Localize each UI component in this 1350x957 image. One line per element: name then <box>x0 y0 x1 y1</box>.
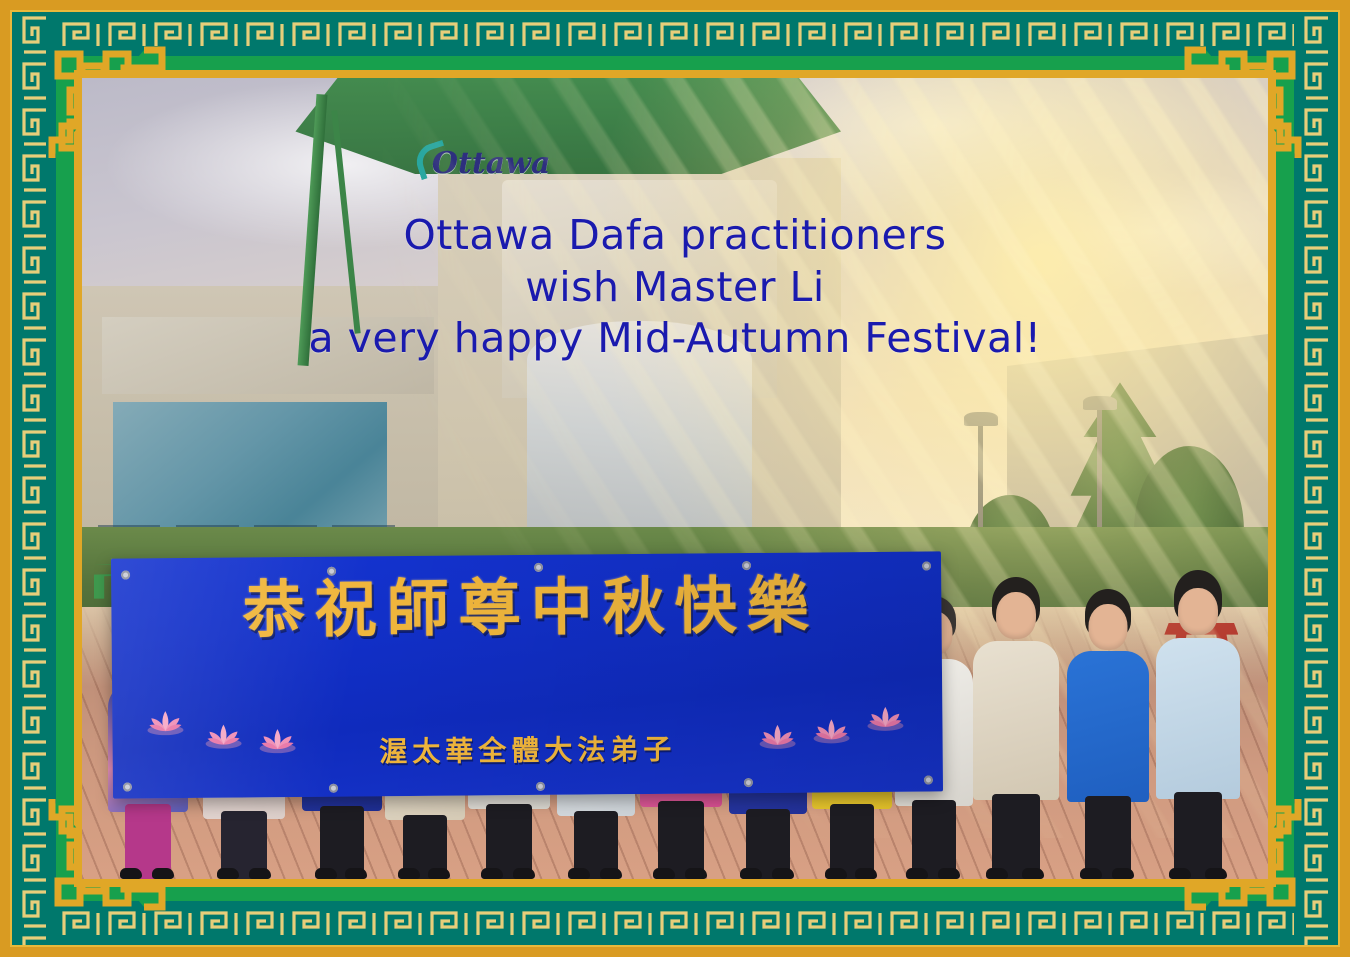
shoe <box>568 868 590 879</box>
shoe <box>938 868 960 879</box>
head <box>1089 604 1128 650</box>
shoe <box>1112 868 1134 879</box>
torso <box>1156 638 1240 799</box>
shoe <box>772 868 794 879</box>
group-photo: Ottawa <box>82 78 1268 879</box>
person <box>972 574 1060 879</box>
person <box>1155 570 1241 879</box>
shoe <box>906 868 928 879</box>
lotus-flower-icon <box>757 721 797 749</box>
legs <box>1085 796 1131 879</box>
shoe <box>152 868 174 879</box>
shoe <box>825 868 847 879</box>
shoe <box>1022 868 1044 879</box>
festival-banner: 恭祝師尊中秋快樂 <box>111 551 943 799</box>
shoe <box>855 868 877 879</box>
shoe <box>513 868 535 879</box>
shoe <box>685 868 707 879</box>
head <box>996 592 1036 639</box>
greek-key-border-top <box>12 12 1338 56</box>
shoe <box>481 868 503 879</box>
shoe <box>120 868 142 879</box>
banner-grommet <box>123 782 132 791</box>
person <box>1066 583 1150 879</box>
legs <box>992 794 1040 879</box>
shoe <box>1080 868 1102 879</box>
left-wing-upper-facade <box>102 317 435 394</box>
lotus-flower-icon <box>865 704 905 732</box>
banner-grommet <box>743 778 752 787</box>
banner-grommet <box>924 775 933 784</box>
shoe <box>428 868 450 879</box>
banner-main-text: 恭祝師尊中秋快樂 <box>152 573 908 642</box>
greek-key-border-bottom <box>12 901 1338 945</box>
shoe <box>315 868 337 879</box>
banner-grommet <box>536 781 545 790</box>
torso <box>973 641 1059 800</box>
head <box>1178 588 1218 635</box>
shoe <box>1205 868 1227 879</box>
greeting-card: Ottawa <box>0 0 1350 957</box>
shoe <box>249 868 271 879</box>
legs <box>1174 792 1222 879</box>
shoe <box>600 868 622 879</box>
banner-grommet <box>922 561 931 570</box>
shoe <box>740 868 762 879</box>
shoe <box>217 868 239 879</box>
shoe <box>986 868 1008 879</box>
banner-grommet <box>121 570 130 579</box>
shoe <box>345 868 367 879</box>
lotus-flower-icon <box>811 716 851 744</box>
ottawa-building-sign: Ottawa <box>432 146 551 181</box>
shoe <box>653 868 675 879</box>
torso <box>1067 651 1149 802</box>
shoe <box>398 868 420 879</box>
banner-grommet <box>328 783 337 792</box>
green-canopy-structure <box>295 78 841 174</box>
shoe <box>1169 868 1191 879</box>
